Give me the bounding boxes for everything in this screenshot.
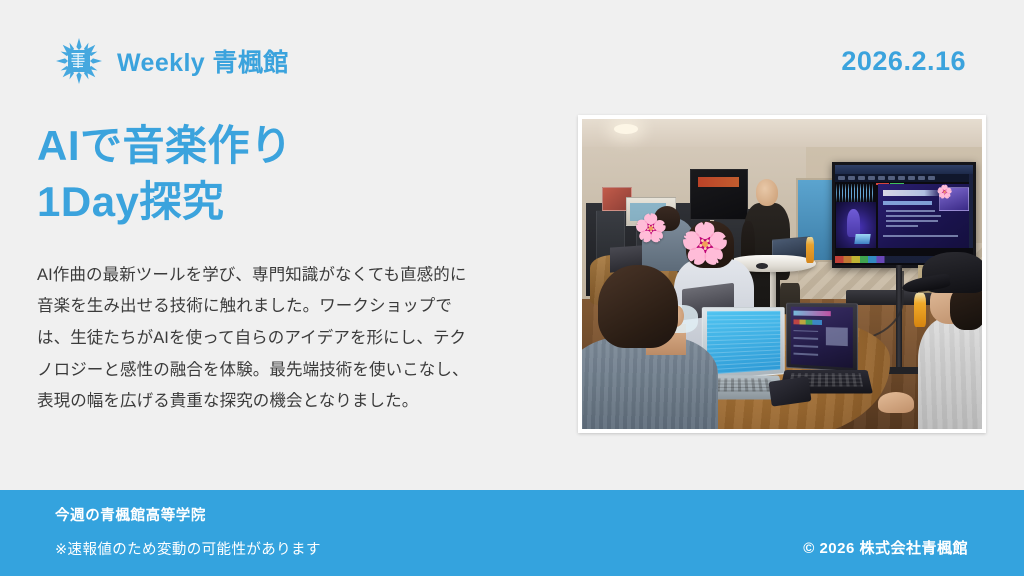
flower-sticker-icon-1: 🌸 [634,215,668,242]
tv-slide-footnote [883,235,958,237]
seifukan-logo-icon [55,37,103,85]
body-line-2: 音楽を生み出せる技術に触れました。ワークショップで [37,291,542,323]
flower-sticker-icon-2: 🌸 [680,224,730,264]
tv-slide-thumbnail: 🌸 [939,187,969,211]
slide-footer: 今週の青楓館高等学院 ※速報値のため変動の可能性があります © 2026 株式会… [0,490,1024,576]
tv-video-laptop [854,234,871,244]
body-line-1: AI作曲の最新ツールを学び、専門知識がなくても直感的に [37,260,542,292]
tv-video-preview [836,202,876,248]
photo-laptop-dark-ui-header [794,311,831,317]
photo-laptop-dark-ui-swatches [794,320,822,325]
slide-root: Weekly 青楓館 2026.2.16 AIで音楽作り 1Day探究 AI作曲… [0,0,1024,576]
body-line-5: 表現の幅を広げる貴重な探究の機会となりました。 [37,386,542,418]
tv-right-panel [969,174,973,248]
photo-ceiling [582,119,982,147]
photo-poster-banner [698,177,739,188]
tv-slide-panel: 🌸 [878,184,972,248]
photo-laptop-blue-display [707,311,780,374]
body-line-3: は、生徒たちがAIを使って自らのアイデアを形にし、テク [37,323,542,355]
tv-slide-heading [883,190,941,196]
tv-app-menubar [835,165,973,174]
tv-audio-waveform [836,184,875,202]
workshop-photo-frame: 🌸 [578,115,986,433]
photo-student-front-hair [598,265,678,349]
slide-header: Weekly 青楓館 2026.2.16 [55,33,966,89]
photo-student-right-hoodie [918,317,982,429]
brand-lockup: Weekly 青楓館 [55,37,289,85]
photo-drink-bottle-1 [806,237,814,263]
footer-title: 今週の青楓館高等学院 [55,504,321,525]
photo-laptop-dark-ui-card [826,328,848,347]
tv-slide-bullet-2 [886,215,940,217]
photo-laptop-dark-display [790,307,853,368]
photo-ceiling-light [614,124,638,134]
page-title: AIで音楽作り 1Day探究 [37,118,542,230]
workshop-photo: 🌸 [582,119,982,429]
photo-student-hand [878,392,914,414]
tv-slide-bullet-1 [886,210,935,212]
footer-note: ※速報値のため変動の可能性があります [55,538,321,559]
tv-slide-subheading [883,201,932,204]
photo-student-right-hair [950,286,982,329]
content-left-column: AIで音楽作り 1Day探究 AI作曲の最新ツールを学び、専門知識がなくても直感… [37,118,542,418]
brand-title: Weekly 青楓館 [117,43,289,79]
headline-line-2: 1Day探究 [37,174,542,230]
tv-slide-bullet-4 [886,225,918,227]
body-paragraph: AI作曲の最新ツールを学び、専門知識がなくても直感的に 音楽を生み出せる技術に触… [37,260,542,418]
tv-flower-sticker-icon: 🌸 [937,185,953,198]
footer-copyright: © 2026 株式会社青楓館 [803,537,968,558]
photo-drink-bottle-3 [914,293,926,327]
body-line-4: ノロジーと感性の融合を体験。最先端技術を使いこなし、 [37,355,542,387]
issue-date: 2026.2.16 [841,46,966,77]
photo-wall-poster [690,169,748,221]
headline-line-1: AIで音楽作り [37,118,542,174]
tv-toolbar [835,174,976,182]
tv-video-person [847,209,861,237]
footer-left-block: 今週の青楓館高等学院 ※速報値のため変動の可能性があります [55,504,321,559]
tv-slide-bullet-3 [886,220,938,222]
photo-laptop-dark-ui-list [794,330,819,356]
photo-presenter-head [756,179,778,205]
photo-laptop-dark-screen [786,303,858,373]
